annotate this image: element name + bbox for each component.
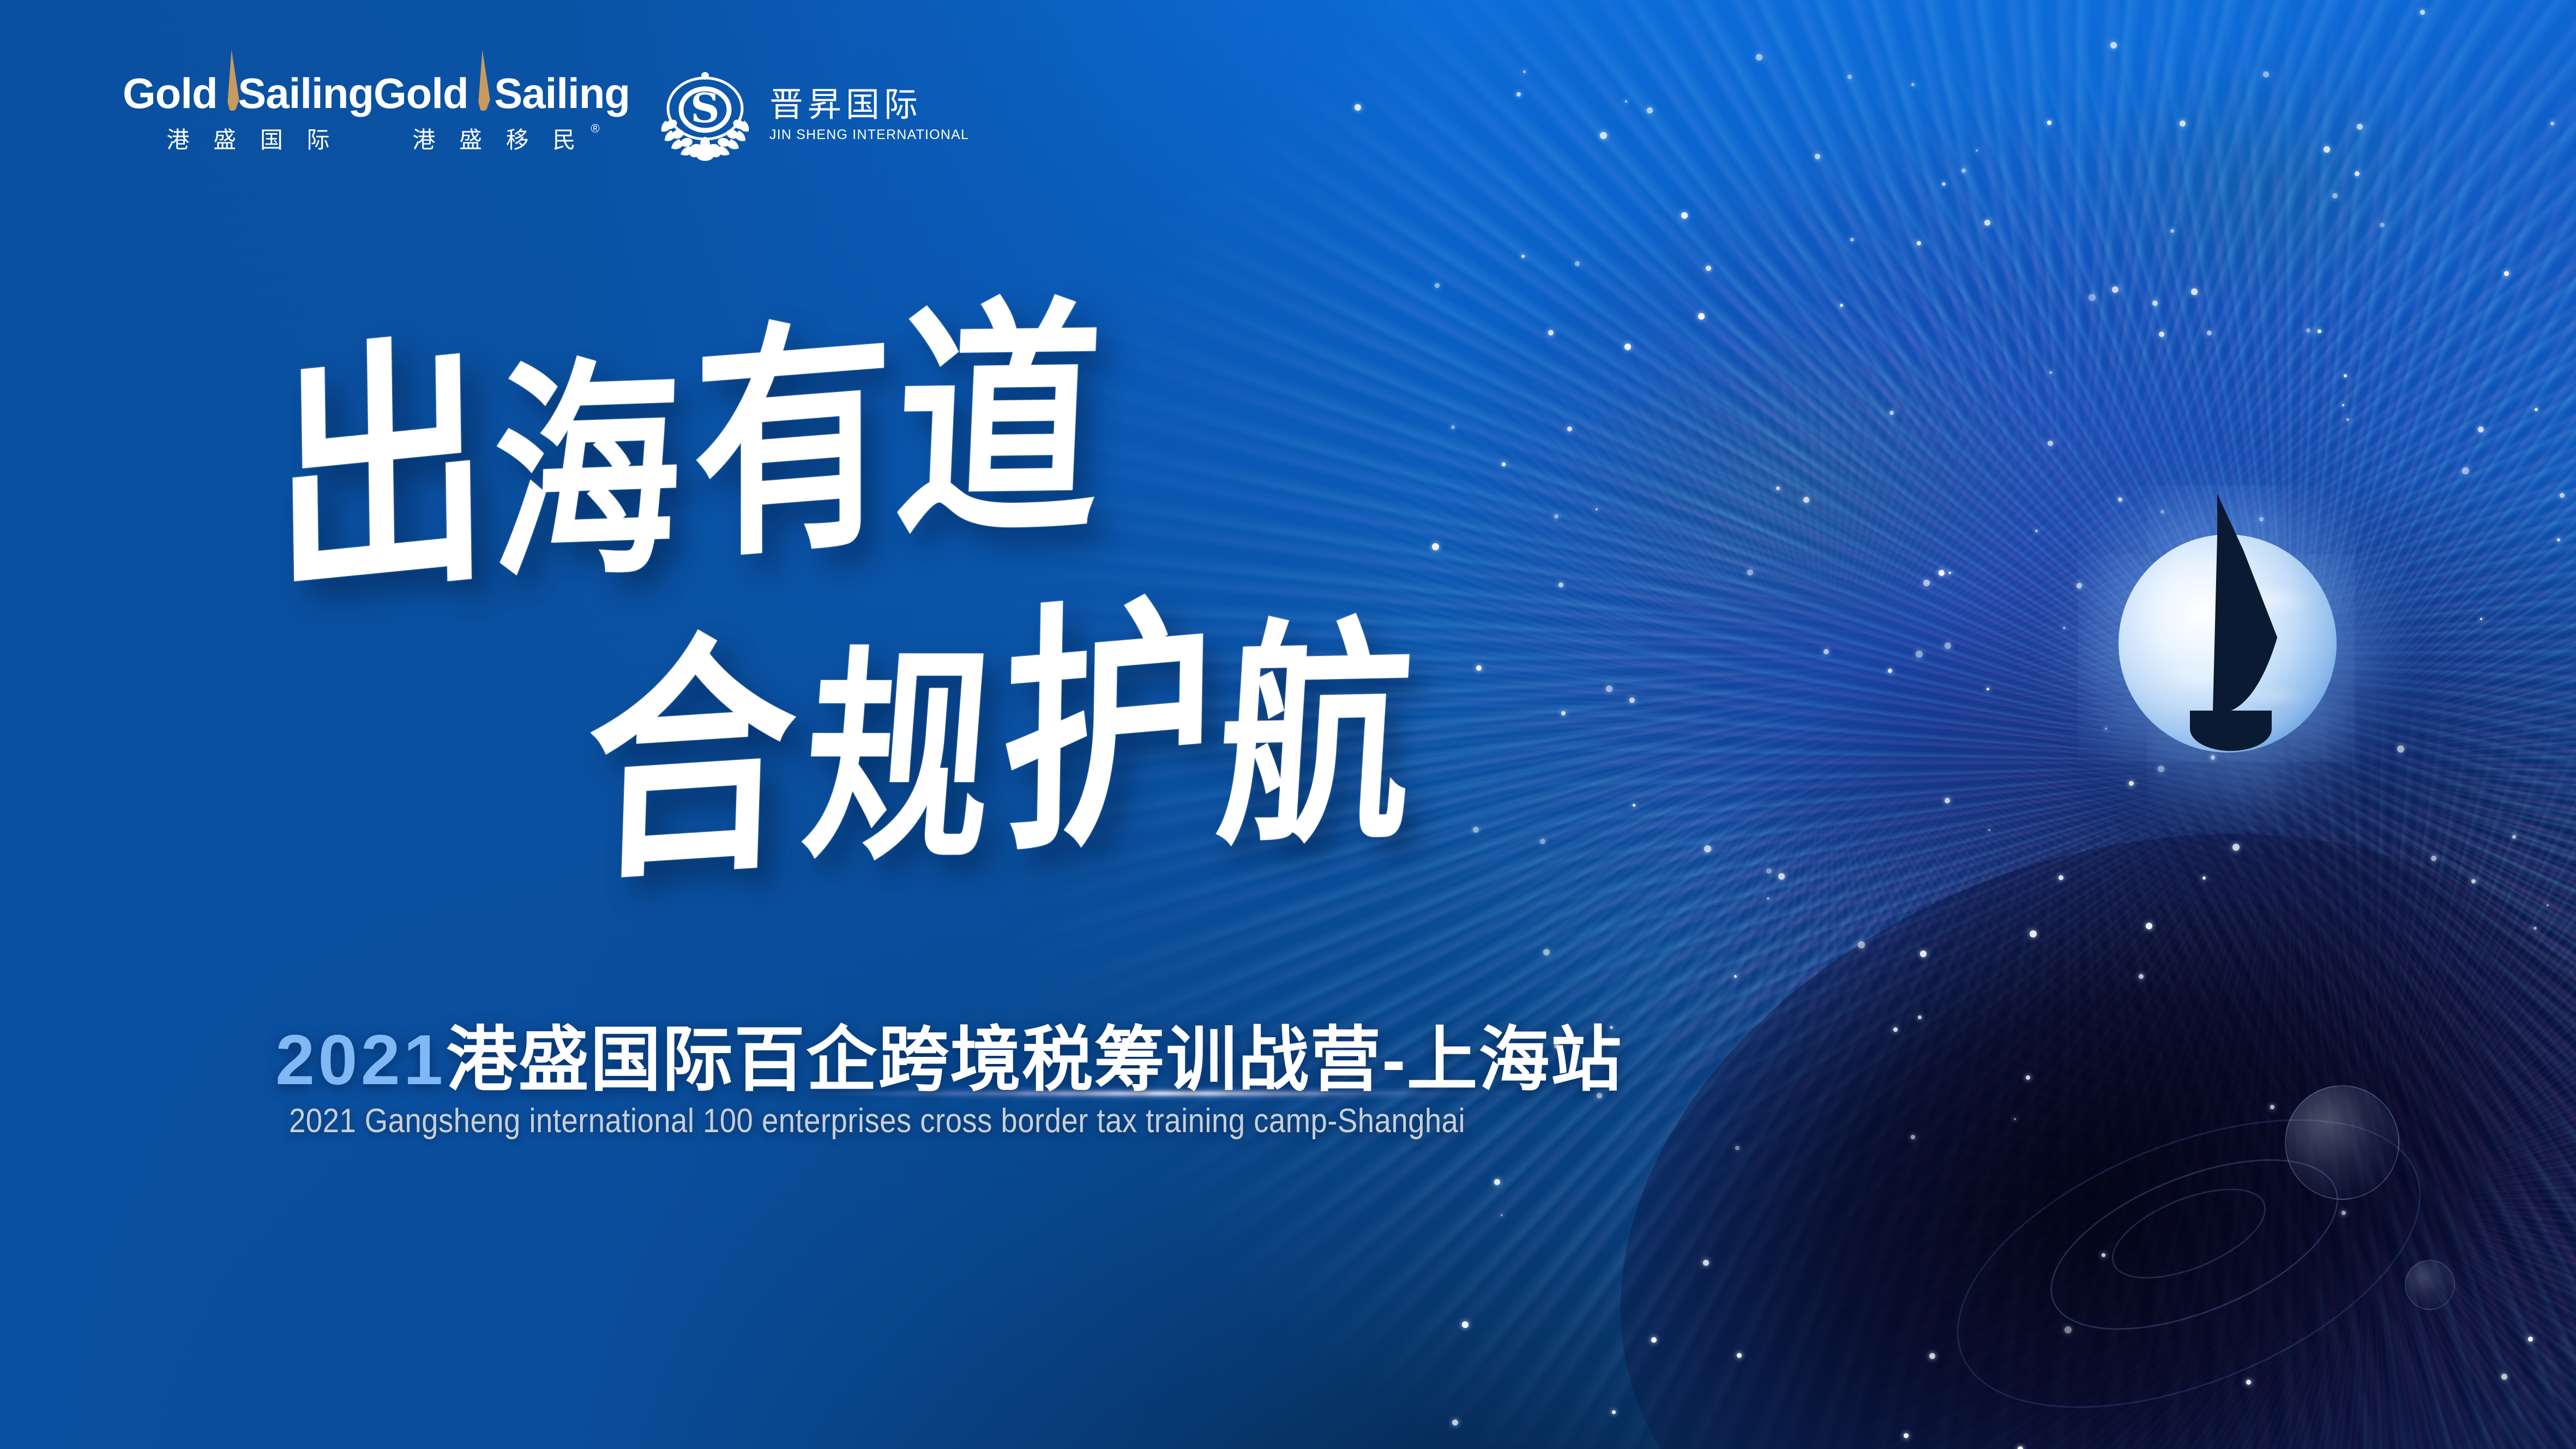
logo-gold-sailing-international[interactable]: Gold Sailing 港 盛 国 际 [123,68,374,155]
sail-icon [221,50,235,119]
wreath-emblem-icon: S [655,68,755,162]
sailboat-icon [2143,494,2307,783]
subtitle-chinese-text: 港盛国际百企跨境税筹训战营-上海站 [446,1020,1622,1099]
sail-right [2217,494,2295,713]
logo-chinese-name: 港 盛 移 民 [404,122,584,155]
sail-icon [472,50,491,119]
promotional-banner: Gold Sailing 港 盛 国 际 Gold Sailing 港 盛 移 … [0,0,2576,1449]
logo-jin-sheng-international[interactable]: S [655,68,969,162]
boat-hull [2190,711,2272,751]
logo-gold-sailing-immigration[interactable]: Gold Sailing 港 盛 移 民 ® [374,68,630,155]
svg-text:S: S [690,85,719,132]
logo-english-name: JIN SHENG INTERNATIONAL [769,127,969,143]
subtitle-chinese: 2021港盛国际百企跨境税筹训战营-上海站 [275,1002,1623,1105]
subtitle-english: 2021 Gangsheng international 100 enterpr… [289,1102,1465,1140]
bokeh-bubble-small [2405,1260,2455,1310]
logo-chinese-name: 晋昇国际 [769,87,969,123]
subtitle-year: 2021 [275,1020,446,1099]
bokeh-bubble-large [2285,1085,2399,1200]
logo-word-sailing: Sailing [494,72,630,115]
logo-word-gold: Gold [123,72,218,115]
logo-word-gold: Gold [374,72,468,115]
logo-word-sailing: Sailing [238,72,374,115]
logo-chinese-name: 港 盛 国 际 [158,122,338,155]
registered-trademark-mark: ® [582,122,599,136]
logo-bar: Gold Sailing 港 盛 国 际 Gold Sailing 港 盛 移 … [123,68,969,162]
